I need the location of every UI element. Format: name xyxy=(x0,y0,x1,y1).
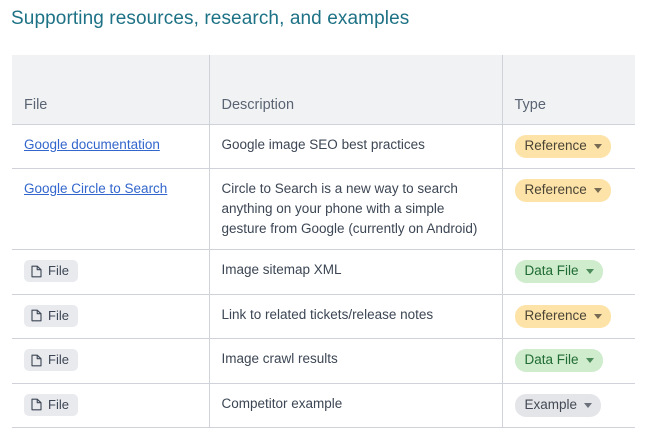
chevron-down-icon xyxy=(586,358,594,363)
file-chip[interactable]: File xyxy=(24,305,78,327)
column-header-description[interactable]: Description xyxy=(209,55,502,125)
type-badge[interactable]: Data File xyxy=(515,260,603,283)
type-badge[interactable]: Reference xyxy=(515,179,611,202)
chevron-down-icon xyxy=(594,314,602,319)
table-row: File Link to related tickets/release not… xyxy=(12,294,635,339)
cell-description: Link to related tickets/release notes xyxy=(209,294,502,339)
file-chip[interactable]: File xyxy=(24,260,78,282)
table-row: File Image crawl results Data File xyxy=(12,339,635,384)
cell-type: Reference xyxy=(502,169,635,250)
table-row: Google Circle to Search Circle to Search… xyxy=(12,169,635,250)
file-chip-label: File xyxy=(48,263,69,279)
chevron-down-icon xyxy=(594,188,602,193)
cell-file: File xyxy=(12,294,209,339)
cell-description: Image crawl results xyxy=(209,339,502,384)
type-badge-label: Reference xyxy=(525,181,587,199)
type-badge[interactable]: Example xyxy=(515,394,602,417)
document-icon xyxy=(31,309,42,322)
cell-file: File xyxy=(12,250,209,295)
cell-file: File xyxy=(12,339,209,384)
table-row: File Competitor example Example xyxy=(12,383,635,428)
cell-type: Example xyxy=(502,383,635,428)
resources-table-container: File Description Type Google documentati… xyxy=(12,55,635,428)
chevron-down-icon xyxy=(594,144,602,149)
chevron-down-icon xyxy=(584,403,592,408)
cell-description: Competitor example xyxy=(209,383,502,428)
column-header-file[interactable]: File xyxy=(12,55,209,125)
column-header-type[interactable]: Type xyxy=(502,55,635,125)
file-chip-label: File xyxy=(48,308,69,324)
table-row: File Image sitemap XML Data File xyxy=(12,250,635,295)
document-icon xyxy=(31,354,42,367)
type-badge-label: Data File xyxy=(525,351,579,369)
type-badge-label: Reference xyxy=(525,307,587,325)
type-badge-label: Reference xyxy=(525,137,587,155)
file-chip-label: File xyxy=(48,352,69,368)
file-link[interactable]: Google Circle to Search xyxy=(24,181,167,196)
cell-description: Google image SEO best practices xyxy=(209,125,502,169)
resources-page: Supporting resources, research, and exam… xyxy=(0,0,655,424)
file-chip[interactable]: File xyxy=(24,394,78,416)
type-badge[interactable]: Reference xyxy=(515,135,611,158)
cell-file: Google Circle to Search xyxy=(12,169,209,250)
page-title: Supporting resources, research, and exam… xyxy=(11,6,409,32)
document-icon xyxy=(31,398,42,411)
document-icon xyxy=(31,265,42,278)
cell-description: Circle to Search is a new way to search … xyxy=(209,169,502,250)
file-link[interactable]: Google documentation xyxy=(24,137,160,152)
type-badge-label: Data File xyxy=(525,262,579,280)
table-row: Google documentation Google image SEO be… xyxy=(12,125,635,169)
type-badge[interactable]: Reference xyxy=(515,305,611,328)
cell-type: Reference xyxy=(502,294,635,339)
cell-description: Image sitemap XML xyxy=(209,250,502,295)
cell-type: Data File xyxy=(502,250,635,295)
table-header: File Description Type xyxy=(12,55,635,125)
table-body: Google documentation Google image SEO be… xyxy=(12,125,635,428)
cell-file: File xyxy=(12,383,209,428)
type-badge[interactable]: Data File xyxy=(515,349,603,372)
file-chip-label: File xyxy=(48,397,69,413)
file-chip[interactable]: File xyxy=(24,349,78,371)
cell-type: Data File xyxy=(502,339,635,384)
resources-table: File Description Type Google documentati… xyxy=(12,55,635,428)
chevron-down-icon xyxy=(586,269,594,274)
table-header-row: File Description Type xyxy=(12,55,635,125)
type-badge-label: Example xyxy=(525,396,578,414)
cell-file: Google documentation xyxy=(12,125,209,169)
cell-type: Reference xyxy=(502,125,635,169)
